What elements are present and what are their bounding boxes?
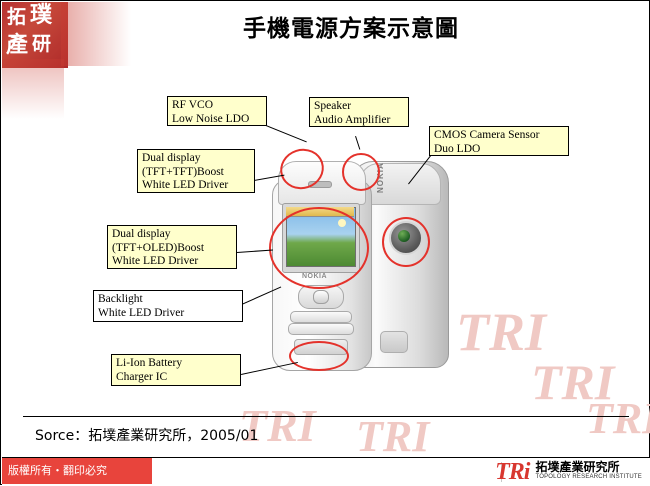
tri-logo-mark: TRi — [495, 459, 529, 486]
highlight-ellipse-display — [269, 207, 369, 289]
slide-page: 拓 璞 產 研 手機電源方案示意圖 TRI TRI TRI TRI TRI NO… — [0, 0, 650, 485]
navigation-center-key — [313, 290, 329, 304]
highlight-ellipse-speaker — [342, 153, 380, 191]
highlight-ellipse-battery — [289, 341, 349, 371]
tri-logo-chinese: 拓墣產業研究所 — [535, 462, 642, 472]
callout-cmos-camera[interactable]: CMOS Camera Sensor Duo LDO — [429, 126, 569, 156]
footer-bar: 版權所有・翻印必究 TRi 拓墣產業研究所 TOPOLOGY RESEARCH … — [2, 457, 650, 485]
leader-line-rf-vco — [266, 125, 307, 142]
watermark-tri-5: TRI — [586, 393, 650, 444]
keypad-row-1 — [290, 311, 352, 323]
callout-speaker[interactable]: Speaker Audio Amplifier — [309, 97, 409, 127]
seal-char-3: 產 — [6, 36, 28, 55]
seal-char-2: 璞 — [30, 6, 52, 25]
watermark-tri-4: TRI — [356, 411, 429, 462]
page-title: 手機電源方案示意圖 — [151, 9, 551, 43]
callout-dual-display-tft-tft[interactable]: Dual display (TFT+TFT)Boost White LED Dr… — [137, 149, 255, 193]
back-speaker-grille — [380, 331, 408, 353]
source-text: Sorce：拓墣產業研究所，2005/01 — [35, 425, 258, 445]
keypad-row-2 — [288, 323, 354, 335]
seal-char-4: 研 — [32, 35, 51, 54]
callout-backlight[interactable]: Backlight White LED Driver — [93, 290, 243, 322]
footer-copyright: 版權所有・翻印必究 — [2, 458, 152, 484]
callout-li-ion-battery[interactable]: Li-Ion Battery Charger IC — [111, 354, 241, 386]
seal-fade-bottom — [2, 59, 64, 119]
seal-fade-right — [61, 2, 131, 66]
tri-logo-english: TOPOLOGY RESEARCH INSTITUTE — [535, 472, 642, 482]
seal-char-1: 拓 — [7, 8, 26, 27]
watermark-tri-2: TRI — [531, 353, 614, 411]
source-divider — [23, 416, 629, 417]
footer-tri-logo: TRi 拓墣產業研究所 TOPOLOGY RESEARCH INSTITUTE — [495, 459, 642, 485]
highlight-ellipse-camera — [382, 217, 430, 267]
callout-rf-vco[interactable]: RF VCO Low Noise LDO — [167, 96, 267, 126]
callout-dual-display-tft-oled[interactable]: Dual display (TFT+OLED)Boost White LED D… — [107, 225, 237, 269]
leader-line-speaker — [355, 136, 360, 150]
